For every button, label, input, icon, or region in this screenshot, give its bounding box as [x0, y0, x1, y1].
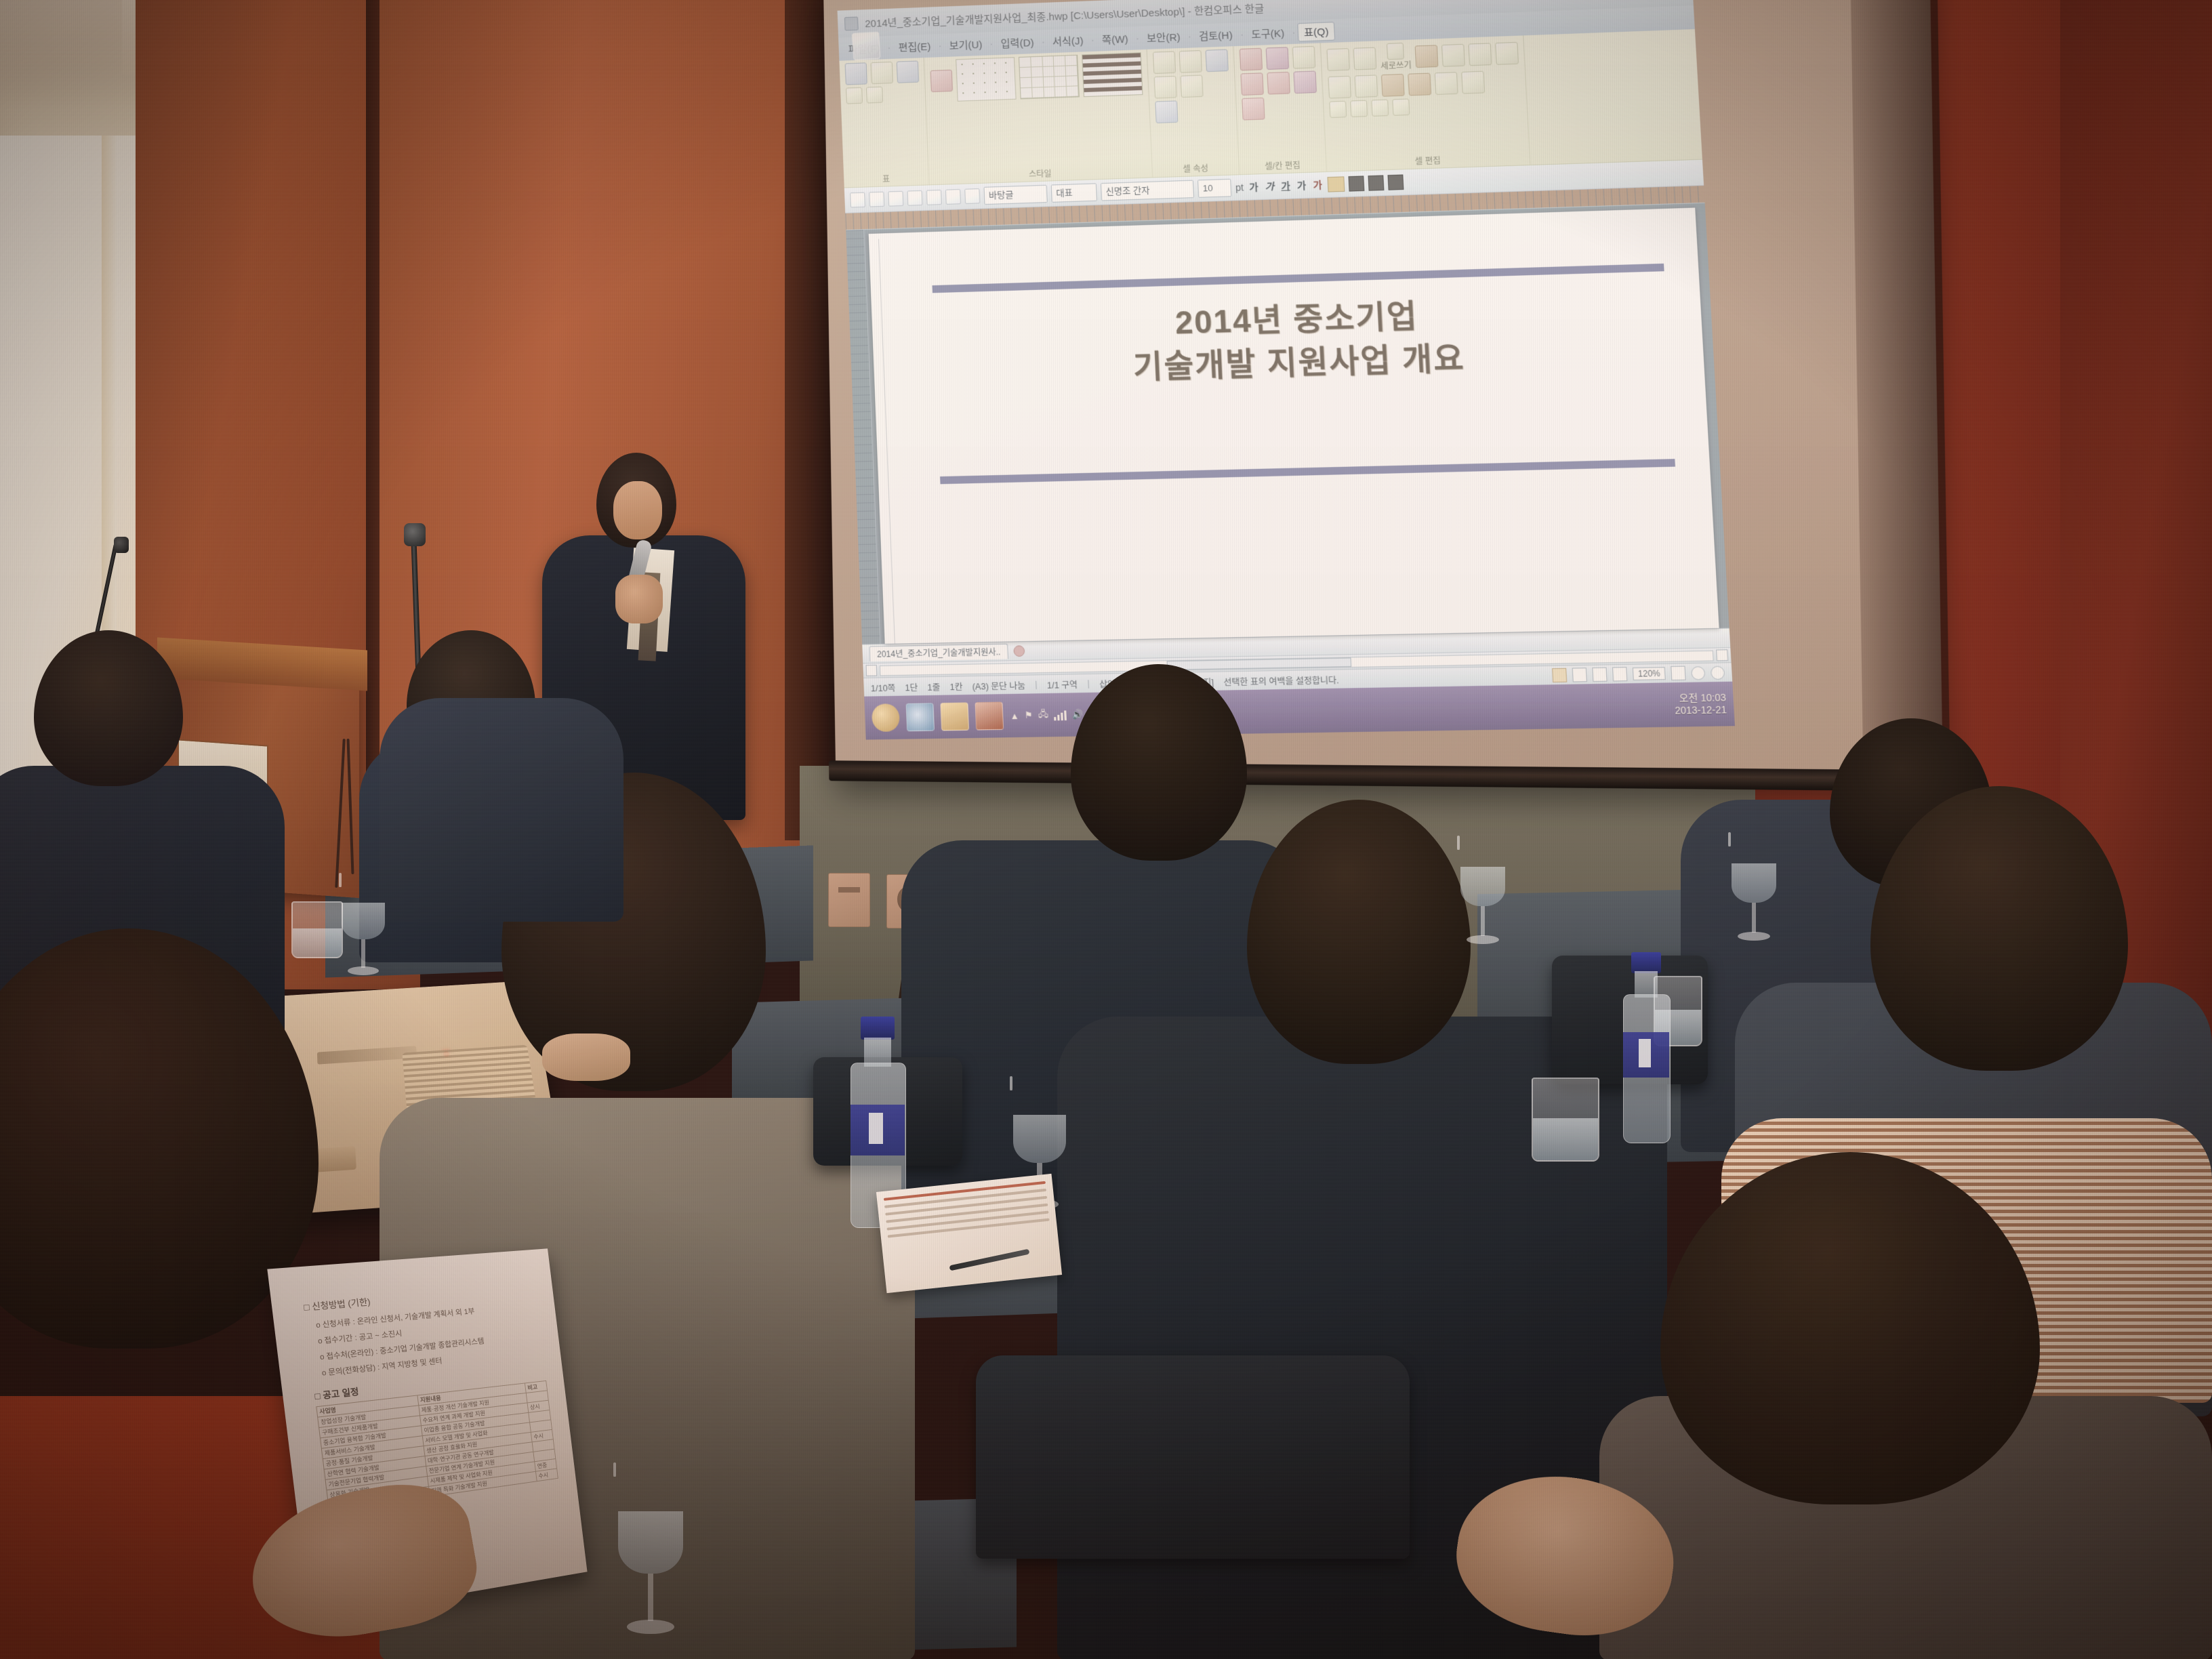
taskbar-clock[interactable]: 오전 10:03 2013-12-21	[1674, 691, 1727, 717]
volume-icon[interactable]: 🔊	[1071, 709, 1083, 720]
table-sort-icon[interactable]	[1408, 73, 1431, 96]
document-icon	[844, 17, 859, 31]
align-left-button[interactable]	[1349, 176, 1365, 191]
seminar-room-photo: 2014년_중소기업_기술개발지원사업_최종.hwp [C:\Users\Use…	[0, 0, 2212, 1659]
presenter-face	[613, 481, 662, 539]
zoom-dropdown-icon[interactable]	[1671, 666, 1686, 680]
document-title-block: 2014년 중소기업 기술개발 지원사업 개요	[932, 264, 1675, 485]
cell-color-icon[interactable]	[1155, 100, 1178, 123]
document-title: 2014년 중소기업 기술개발 지원사업 개요	[933, 271, 1670, 394]
start-button-icon[interactable]	[872, 703, 900, 732]
presenter-hand	[615, 575, 663, 623]
table-header-icon[interactable]	[1329, 101, 1347, 118]
view-single-page-icon[interactable]	[1552, 668, 1567, 682]
drinking-glass-right	[1532, 1078, 1599, 1162]
menu-item-page[interactable]: 쪽(W)	[1096, 30, 1134, 48]
menu-separator: ·	[887, 41, 891, 53]
view-width-icon[interactable]	[1593, 668, 1607, 682]
cell-size-icon[interactable]	[1292, 46, 1316, 69]
table-style-dotted-gallery[interactable]	[956, 57, 1016, 102]
align-bottom-icon[interactable]	[1328, 76, 1351, 99]
font-family-select[interactable]: 신명조 간자	[1101, 180, 1194, 201]
border-style-icon[interactable]	[1206, 49, 1229, 73]
align-center-button[interactable]	[1368, 175, 1385, 190]
save-document-icon[interactable]	[888, 191, 903, 207]
highlight-color-swatch[interactable]	[1328, 176, 1345, 192]
menu-item-security[interactable]: 보안(R)	[1141, 28, 1186, 47]
table-convert-icon[interactable]	[1461, 71, 1485, 94]
menu-item-input[interactable]: 입력(D)	[995, 33, 1040, 52]
status-paper: (A3) 문단 나눔	[972, 678, 1025, 692]
open-document-icon[interactable]	[869, 192, 884, 207]
font-color-button[interactable]: 가	[1311, 178, 1324, 192]
drinking-glass-left	[291, 901, 343, 958]
bold-button[interactable]: 가	[1248, 180, 1260, 194]
table-formula-icon[interactable]	[1435, 72, 1458, 95]
cell-margin-icon[interactable]	[1415, 45, 1439, 68]
ribbon-group-label: 셀 속성	[1152, 161, 1239, 176]
menu-separator: ·	[1135, 33, 1139, 44]
menu-separator: ·	[1292, 26, 1296, 38]
chair-center	[976, 1355, 1410, 1559]
underline-button[interactable]: 가	[1279, 179, 1292, 193]
table-layout-icon[interactable]	[1441, 43, 1465, 66]
menu-separator: ·	[989, 38, 994, 49]
water-bottle-right	[1620, 952, 1673, 1142]
water-goblet-left	[339, 874, 388, 983]
folder-icon[interactable]	[940, 702, 969, 731]
table-style-banded-gallery[interactable]	[1082, 52, 1143, 97]
print-icon[interactable]	[907, 190, 922, 206]
table-split-icon[interactable]	[1469, 43, 1492, 66]
menu-separator: ·	[1240, 28, 1244, 40]
document-tab[interactable]: 2014년_중소기업_기술개발지원사..	[869, 644, 1008, 661]
font-size-unit: pt	[1235, 182, 1244, 193]
insert-row-icon[interactable]	[1240, 73, 1263, 96]
attendee-ear-center-front	[542, 1033, 630, 1081]
caption-icon[interactable]	[1381, 74, 1405, 97]
document-canvas[interactable]: 2014년 중소기업 기술개발 지원사업 개요	[846, 203, 1729, 644]
zoom-out-icon[interactable]	[1691, 666, 1705, 680]
status-char: 1칸	[949, 679, 963, 693]
redo-icon[interactable]	[964, 188, 980, 204]
paragraph-style-select[interactable]: 바탕글	[983, 185, 1047, 205]
border-pen-icon[interactable]	[1179, 50, 1202, 73]
insert-col-icon[interactable]	[1267, 72, 1290, 95]
ribbon-group-table[interactable]: 표	[839, 58, 929, 187]
signal-icon[interactable]	[1054, 709, 1067, 720]
ribbon-group-cell-edit[interactable]: 세로쓰기	[1321, 35, 1531, 171]
status-line: 1줄	[927, 680, 941, 693]
align-right-button[interactable]	[1388, 174, 1404, 190]
distribute-rows-icon[interactable]	[1242, 98, 1265, 121]
zoom-in-icon[interactable]	[1711, 665, 1725, 679]
table-repeat-icon[interactable]	[1350, 100, 1368, 117]
status-separator: |	[1087, 678, 1090, 689]
tray-flag-icon[interactable]: ⚑	[1025, 710, 1033, 721]
table-join-icon[interactable]	[1495, 41, 1519, 64]
ribbon-group-style[interactable]: 스타일	[924, 49, 1153, 184]
insert-table-icon[interactable]	[845, 62, 867, 85]
menu-separator: ·	[1187, 30, 1191, 42]
menu-item-edit[interactable]: 편집(E)	[893, 37, 937, 56]
tray-network-icon[interactable]: 🖧	[1038, 708, 1049, 723]
wall-switch-plate[interactable]	[828, 873, 870, 927]
new-document-icon[interactable]	[850, 192, 865, 208]
vertical-text-icon[interactable]	[1387, 43, 1404, 60]
align-middle-icon[interactable]	[1353, 47, 1377, 70]
delete-cell-icon[interactable]	[1294, 70, 1317, 94]
search-icon[interactable]	[1612, 667, 1627, 681]
close-icon[interactable]	[1014, 645, 1025, 657]
powerpoint-icon[interactable]	[975, 702, 1004, 731]
view-facing-pages-icon[interactable]	[1572, 668, 1587, 682]
ribbon-group-label: 표	[844, 171, 928, 186]
status-section: 1/1 구역	[1046, 677, 1078, 691]
table-break-icon[interactable]	[1371, 100, 1389, 117]
status-hint: 선택한 표의 여백을 설정합니다.	[1223, 672, 1339, 688]
scroll-left-icon[interactable]	[865, 665, 877, 676]
distribute-cols-icon[interactable]	[1355, 75, 1378, 98]
vertical-text-label: 세로쓰기	[1380, 59, 1412, 72]
font-size-input[interactable]: 10	[1197, 179, 1232, 198]
projection-screen: 2014년_중소기업_기술개발지원사업_최종.hwp [C:\Users\Use…	[823, 0, 1944, 813]
table-col-icon[interactable]	[866, 87, 883, 104]
print-preview-icon[interactable]	[926, 190, 942, 205]
table-row-icon[interactable]	[846, 87, 863, 104]
clock-time: 오전 10:03	[1674, 691, 1727, 705]
table-style-grid-gallery[interactable]	[1019, 55, 1080, 100]
outline-button[interactable]: 가	[1295, 178, 1307, 192]
cell-shade-icon[interactable]	[930, 70, 954, 92]
status-page: 1/10쪽	[870, 680, 895, 694]
screen-surface: 2014년_중소기업_기술개발지원사업_최종.hwp [C:\Users\Use…	[823, 0, 1943, 792]
italic-button[interactable]: 가	[1263, 180, 1275, 194]
water-goblet-right-back	[1457, 837, 1509, 952]
document-page[interactable]: 2014년 중소기업 기술개발 지원사업 개요	[869, 207, 1719, 643]
zoom-level[interactable]: 120%	[1633, 667, 1666, 680]
menu-item-table[interactable]: 표(Q)	[1297, 22, 1335, 41]
status-separator: |	[1035, 680, 1038, 690]
cell-fill-icon[interactable]	[1154, 76, 1177, 99]
menu-separator: ·	[1090, 34, 1094, 45]
handout-sheet-on-table[interactable]	[876, 1174, 1062, 1293]
menu-item-view[interactable]: 보기(U)	[943, 35, 988, 54]
ribbon-group-cell-merge[interactable]: 셀/칸 편집	[1233, 43, 1327, 174]
chart-icon[interactable]	[897, 60, 919, 83]
hangul-icon[interactable]	[852, 31, 881, 60]
scrollbar-thumb[interactable]	[1167, 657, 1351, 670]
style-variant-select[interactable]: 대표	[1051, 183, 1097, 203]
clock-date: 2013-12-21	[1675, 704, 1727, 718]
microphone-stand-head	[404, 523, 426, 546]
projected-hwp-application: 2014년_중소기업_기술개발지원사업_최종.hwp [C:\Users\Use…	[838, 0, 1733, 705]
podium-microphone-head	[114, 537, 129, 553]
table-options-icon[interactable]	[1392, 98, 1410, 115]
attendee-body-center-back	[380, 698, 623, 922]
menu-item-format[interactable]: 서식(J)	[1046, 31, 1089, 50]
cell-pattern-icon[interactable]	[1180, 75, 1203, 98]
browser-icon[interactable]	[906, 703, 935, 731]
ribbon-group-label: 셀/칸 편집	[1239, 159, 1326, 173]
menu-separator: ·	[938, 39, 942, 51]
table-cell: 수시	[535, 1469, 558, 1481]
menu-separator: ·	[1041, 36, 1045, 47]
water-goblet-far-right	[1728, 834, 1780, 949]
screen-shadow	[1850, 0, 1950, 784]
water-goblet-foreground	[613, 1464, 688, 1647]
undo-icon[interactable]	[945, 189, 961, 205]
table-properties-icon[interactable]	[871, 62, 893, 84]
merge-cells-icon[interactable]	[1240, 48, 1263, 71]
split-cells-icon[interactable]	[1266, 47, 1289, 70]
tray-arrow-icon[interactable]: ▲	[1010, 710, 1019, 721]
ribbon-group-cell-properties[interactable]: 셀 속성	[1147, 46, 1240, 177]
menu-item-review[interactable]: 검토(H)	[1193, 26, 1238, 45]
align-top-icon[interactable]	[1326, 48, 1350, 71]
scroll-right-icon[interactable]	[1716, 649, 1728, 661]
menu-item-tools[interactable]: 도구(K)	[1246, 24, 1291, 43]
cell-border-icon[interactable]	[1153, 51, 1176, 74]
status-column: 1단	[905, 680, 918, 693]
